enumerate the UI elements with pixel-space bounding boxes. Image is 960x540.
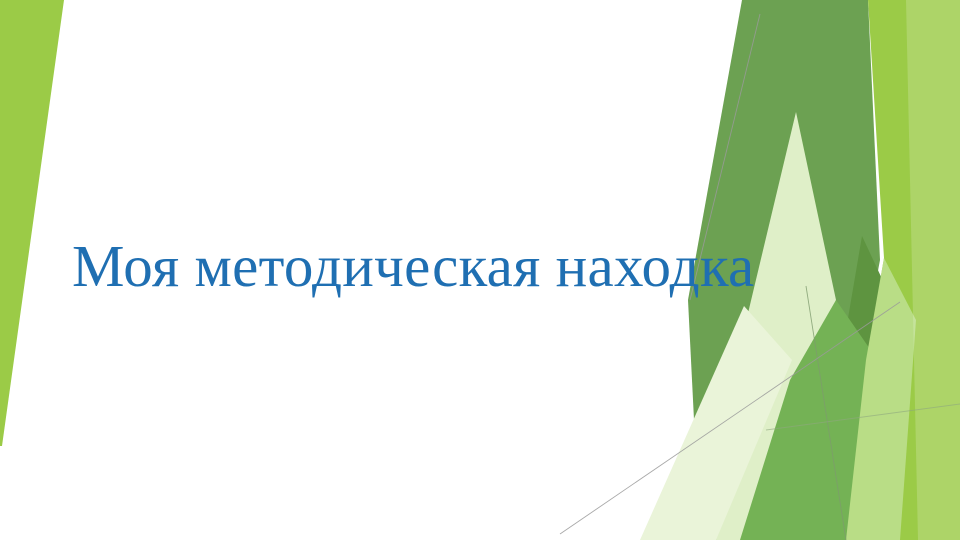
left-green-wedge	[0, 0, 64, 446]
right-pale-wedge-upper	[716, 112, 836, 540]
slide-canvas: Моя методическая находка	[0, 0, 960, 540]
title-placeholder[interactable]: Моя методическая находка	[72, 222, 772, 312]
right-light-column	[846, 258, 916, 540]
right-mid-green-fan	[740, 300, 872, 540]
page-title: Моя методическая находка	[72, 235, 755, 299]
right-deep-green-sliver	[846, 236, 906, 420]
right-pale-wedge-lower	[640, 306, 792, 540]
hairline-shallow	[560, 302, 900, 534]
right-tint-overlay	[906, 0, 960, 540]
right-bright-green-band	[836, 0, 960, 540]
hairline-steep-2	[806, 286, 846, 540]
hairline-shallow-2	[766, 404, 960, 430]
